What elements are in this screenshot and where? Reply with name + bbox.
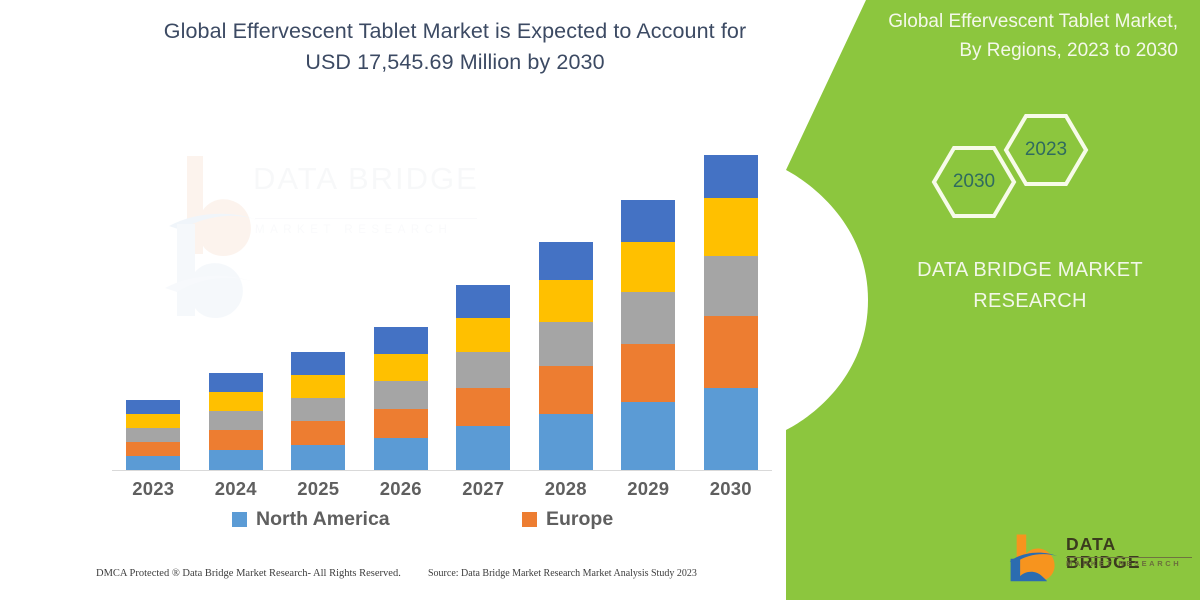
bar-segment[interactable] <box>374 438 428 470</box>
legend-swatch <box>522 512 537 527</box>
x-axis-line <box>112 470 772 471</box>
bar-2023[interactable] <box>126 400 180 470</box>
chart-title-line1: Global Effervescent Tablet Market is Exp… <box>164 19 746 43</box>
bar-segment[interactable] <box>374 409 428 438</box>
dmca-notice: DMCA Protected ® Data Bridge Market Rese… <box>96 568 401 579</box>
x-tick-2025: 2025 <box>278 478 358 500</box>
bar-segment[interactable] <box>539 414 593 470</box>
legend-label: North America <box>256 508 390 531</box>
bar-segment[interactable] <box>209 373 263 392</box>
bar-segment[interactable] <box>374 354 428 381</box>
bar-2025[interactable] <box>291 352 345 470</box>
source-note: Source: Data Bridge Market Research Mark… <box>428 568 697 579</box>
bar-segment[interactable] <box>621 344 675 402</box>
panel-title-line2: By Regions, 2023 to 2030 <box>848 37 1178 66</box>
bar-segment[interactable] <box>704 198 758 256</box>
bar-2029[interactable] <box>621 200 675 470</box>
bar-segment[interactable] <box>621 402 675 470</box>
bar-segment[interactable] <box>209 450 263 470</box>
bar-segment[interactable] <box>539 322 593 366</box>
chart-title: Global Effervescent Tablet Market is Exp… <box>110 16 800 77</box>
bar-segment[interactable] <box>209 411 263 430</box>
chart-title-line2: USD 17,545.69 Million by 2030 <box>110 47 800 78</box>
bar-segment[interactable] <box>374 381 428 409</box>
bar-2030[interactable] <box>704 155 758 470</box>
bar-segment[interactable] <box>456 388 510 426</box>
data-bridge-logo-mark-icon <box>1008 532 1060 582</box>
bar-2028[interactable] <box>539 242 593 470</box>
data-bridge-logo: DATA BRIDGE MARKET RESEARCH <box>1008 530 1194 586</box>
legend-item[interactable]: North America <box>232 508 390 531</box>
bar-segment[interactable] <box>291 352 345 375</box>
bar-segment[interactable] <box>539 366 593 414</box>
hexagon-outline-icon <box>920 112 1120 222</box>
legend-label: Europe <box>546 508 613 531</box>
panel-brand-line2: RESEARCH <box>880 286 1180 317</box>
bar-segment[interactable] <box>539 280 593 322</box>
x-tick-2029: 2029 <box>608 478 688 500</box>
panel-title: Global Effervescent Tablet Market, By Re… <box>848 8 1178 65</box>
x-tick-2024: 2024 <box>196 478 276 500</box>
x-tick-2030: 2030 <box>691 478 771 500</box>
bar-segment[interactable] <box>456 426 510 470</box>
hex-label-end-year: 2030 <box>934 171 1014 193</box>
x-axis-tick-labels: 20232024202520262027202820292030 <box>112 478 772 506</box>
bar-segment[interactable] <box>126 428 180 442</box>
hex-badges: 2023 2030 <box>920 112 1120 222</box>
bar-segment[interactable] <box>126 400 180 414</box>
bar-segment[interactable] <box>126 456 180 470</box>
bar-segment[interactable] <box>704 256 758 316</box>
bar-segment[interactable] <box>621 242 675 292</box>
hex-label-start-year: 2023 <box>1006 139 1086 161</box>
bar-segment[interactable] <box>704 316 758 388</box>
logo-tagline: MARKET RESEARCH <box>1066 560 1196 568</box>
bar-segment[interactable] <box>456 318 510 352</box>
bar-segment[interactable] <box>209 430 263 450</box>
bar-2027[interactable] <box>456 285 510 470</box>
bar-segment[interactable] <box>291 445 345 470</box>
bar-segment[interactable] <box>621 292 675 344</box>
legend-swatch <box>232 512 247 527</box>
bar-segment[interactable] <box>291 398 345 421</box>
panel-title-line1: Global Effervescent Tablet Market, <box>848 8 1178 37</box>
bar-segment[interactable] <box>291 421 345 445</box>
x-tick-2023: 2023 <box>113 478 193 500</box>
bar-segment[interactable] <box>126 414 180 428</box>
bar-segment[interactable] <box>456 352 510 388</box>
chart-legend: North AmericaEurope <box>112 508 772 542</box>
infographic-canvas: Global Effervescent Tablet Market is Exp… <box>0 0 1200 600</box>
panel-brand-line1: DATA BRIDGE MARKET <box>880 255 1180 286</box>
bar-segment[interactable] <box>456 285 510 318</box>
bar-segment[interactable] <box>704 388 758 470</box>
bar-segment[interactable] <box>374 327 428 354</box>
x-tick-2026: 2026 <box>361 478 441 500</box>
x-tick-2028: 2028 <box>526 478 606 500</box>
bar-segment[interactable] <box>209 392 263 411</box>
chart-plot-area <box>112 140 772 470</box>
bar-2026[interactable] <box>374 327 428 470</box>
bar-segment[interactable] <box>704 155 758 198</box>
bar-segment[interactable] <box>126 442 180 456</box>
x-tick-2027: 2027 <box>443 478 523 500</box>
bar-segment[interactable] <box>291 375 345 398</box>
bar-segment[interactable] <box>539 242 593 280</box>
bar-2024[interactable] <box>209 373 263 470</box>
bar-segment[interactable] <box>621 200 675 242</box>
panel-brand: DATA BRIDGE MARKET RESEARCH <box>880 255 1180 317</box>
legend-item[interactable]: Europe <box>522 508 613 531</box>
logo-divider <box>1066 557 1192 558</box>
